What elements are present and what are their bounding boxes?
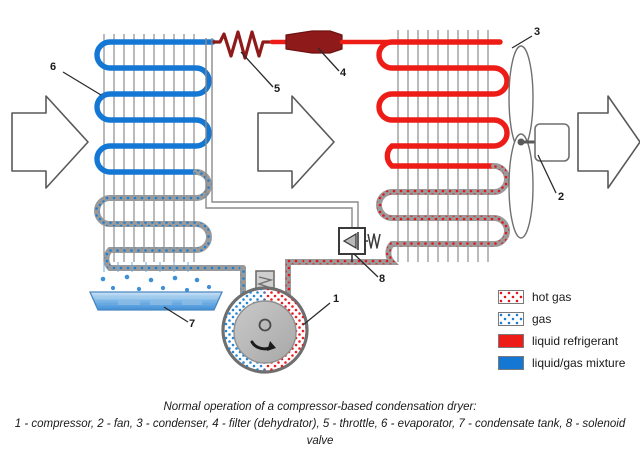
filter-dehydrator (286, 31, 342, 53)
callout-lines (63, 36, 556, 325)
figure-caption: Normal operation of a compressor-based c… (0, 399, 640, 450)
legend-item-gas: gas (498, 308, 638, 330)
solenoid-valve[interactable] (339, 228, 380, 262)
airflow-arrow-left (12, 96, 88, 188)
gas-swatch-icon (498, 312, 524, 326)
label-2: 2 (558, 191, 564, 203)
legend-item-liquid-gas-mixture: liquid/gas mixture (498, 352, 638, 374)
liquid-gas-mixture-swatch-icon (498, 356, 524, 370)
label-3: 3 (534, 26, 540, 38)
label-7: 7 (189, 318, 195, 330)
label-5: 5 (274, 83, 280, 95)
discharge-line-hot-gas (288, 262, 300, 284)
label-1: 1 (333, 293, 339, 305)
legend-item-liquid-refrigerant: liquid refrigerant (498, 330, 638, 352)
airflow-arrow-right (578, 96, 640, 188)
airflow-arrow-middle (258, 96, 334, 188)
callout-labels: 6 2 3 4 5 7 1 8 (50, 26, 564, 330)
legend-label-hot-gas: hot gas (532, 290, 571, 304)
caption-line-1: Normal operation of a compressor-based c… (0, 399, 640, 416)
hot-gas-swatch-icon (498, 290, 524, 304)
label-6: 6 (50, 61, 56, 73)
legend-item-hot-gas: hot gas (498, 286, 638, 308)
condenser-coil-lower (300, 166, 507, 262)
condensate-tank (90, 292, 222, 310)
legend-label-liquid-refrigerant: liquid refrigerant (532, 334, 618, 348)
caption-line-2: 1 - compressor, 2 - fan, 3 - condenser, … (0, 416, 640, 450)
legend-label-liquid-gas-mixture: liquid/gas mixture (532, 356, 625, 370)
legend-label-gas: gas (532, 312, 551, 326)
fan (509, 46, 569, 238)
label-8: 8 (379, 273, 385, 285)
liquid-refrigerant-swatch-icon (498, 334, 524, 348)
label-4: 4 (340, 67, 347, 79)
compressor (223, 271, 307, 372)
diagram-canvas: 6 2 3 4 5 7 1 8 hot gas gas liquid refri… (0, 0, 640, 444)
legend: hot gas gas liquid refrigerant liquid/ga… (498, 286, 638, 374)
evaporator-coil-lower (97, 172, 243, 268)
